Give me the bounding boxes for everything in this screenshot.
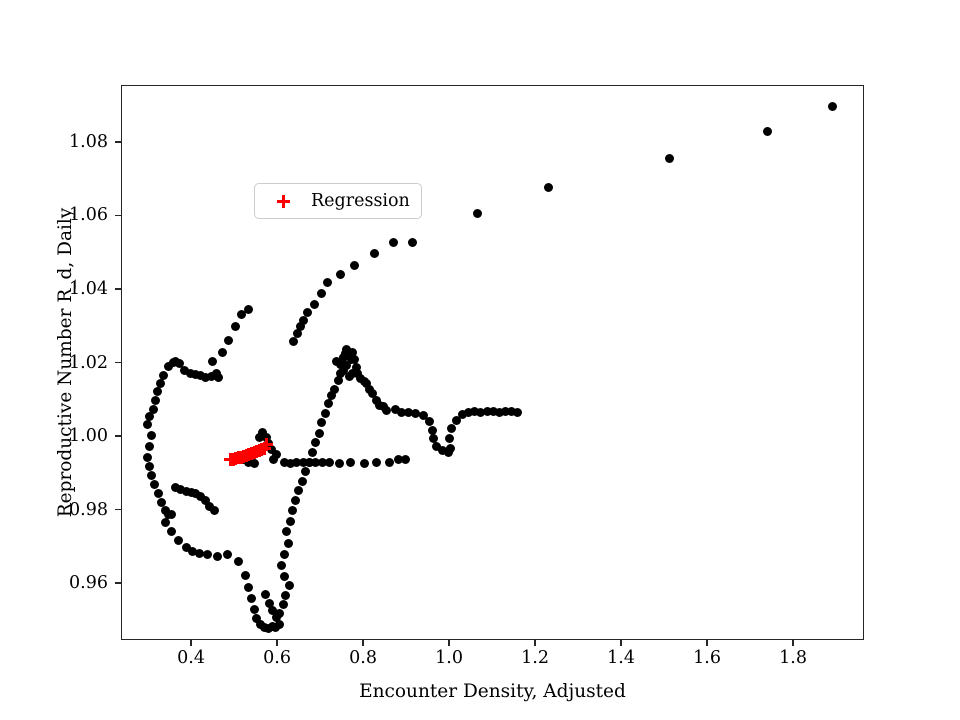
data-point: [311, 438, 320, 447]
data-point: [360, 459, 369, 468]
data-point: [310, 300, 319, 309]
data-point: [308, 448, 317, 457]
data-point: [346, 458, 355, 467]
x-axis-tick: [534, 640, 535, 646]
x-axis-tick: [190, 640, 191, 646]
data-point: [385, 458, 394, 467]
data-point: [224, 336, 233, 345]
x-axis-label: Encounter Density, Adjusted: [121, 681, 864, 702]
data-point: [336, 270, 345, 279]
data-point: [208, 357, 217, 366]
data-point: [513, 408, 522, 417]
y-axis-tick: [115, 215, 121, 216]
data-point: [213, 552, 222, 561]
data-point: [324, 399, 333, 408]
data-point: [167, 527, 176, 536]
data-point: [281, 591, 290, 600]
y-axis-tick-label: 0.96: [69, 573, 108, 593]
data-point: [260, 438, 273, 451]
data-point: [325, 458, 334, 467]
data-point: [234, 557, 243, 566]
plot-frame: Regression: [121, 85, 864, 640]
data-point: [446, 444, 455, 453]
data-point: [145, 462, 154, 471]
data-point: [147, 471, 156, 480]
x-axis-tick-label: 1.6: [693, 648, 721, 668]
y-axis-tick: [115, 582, 121, 583]
data-point: [282, 527, 291, 536]
x-axis-tick-label: 0.8: [349, 648, 377, 668]
data-point: [279, 600, 288, 609]
y-axis-tick: [115, 509, 121, 510]
data-point: [389, 238, 398, 247]
x-axis-tick-label: 0.6: [263, 648, 291, 668]
x-axis-tick-label: 0.4: [177, 648, 205, 668]
data-point: [261, 590, 270, 599]
data-point: [143, 453, 152, 462]
data-point: [231, 322, 240, 331]
data-point: [473, 209, 482, 218]
data-point: [425, 417, 434, 426]
x-axis-tick: [792, 640, 793, 646]
data-points-layer: [122, 86, 863, 639]
y-axis-tick-label: 0.98: [69, 500, 108, 520]
scatter-plot-figure: Reproductive Number R_d, Daily 0.960.981…: [0, 0, 960, 720]
data-point: [174, 536, 183, 545]
data-point: [150, 480, 159, 489]
data-point: [315, 429, 324, 438]
data-point: [280, 572, 289, 581]
data-point: [244, 305, 253, 314]
data-point: [370, 249, 379, 258]
data-point: [241, 571, 250, 580]
data-point: [149, 405, 158, 414]
data-point: [285, 581, 294, 590]
data-point: [298, 477, 307, 486]
data-point: [275, 609, 284, 618]
data-point: [294, 486, 303, 495]
y-axis-tick-label: 1.08: [69, 132, 108, 152]
legend-entry-label: Regression: [311, 191, 410, 211]
y-axis-tick: [115, 288, 121, 289]
y-axis-tick-label: 1.02: [69, 353, 108, 373]
data-point: [250, 605, 259, 614]
data-point: [828, 102, 837, 111]
data-point: [445, 434, 454, 443]
x-axis-tick: [706, 640, 707, 646]
x-axis-tick-label: 1.0: [435, 648, 463, 668]
y-axis-tick: [115, 141, 121, 142]
x-axis-tick-label: 1.4: [607, 648, 635, 668]
data-point: [401, 455, 410, 464]
data-point: [223, 550, 232, 559]
data-point: [317, 418, 326, 427]
data-point: [350, 261, 359, 270]
x-axis-tick: [448, 640, 449, 646]
y-axis-tick-label: 1.04: [69, 279, 108, 299]
data-point: [763, 127, 772, 136]
data-point: [372, 458, 381, 467]
y-axis-tick: [115, 435, 121, 436]
data-point: [269, 455, 278, 464]
data-point: [382, 406, 391, 415]
y-axis-tick-label: 1.06: [69, 205, 108, 225]
data-point: [203, 550, 212, 559]
x-axis-tick: [276, 640, 277, 646]
x-axis-tick-label: 1.8: [779, 648, 807, 668]
x-axis-tick-label: 1.2: [521, 648, 549, 668]
data-point: [224, 453, 237, 466]
data-point: [286, 517, 295, 526]
data-point: [143, 420, 152, 429]
data-point: [145, 442, 154, 451]
data-point: [161, 518, 170, 527]
data-point: [156, 379, 165, 388]
data-point: [151, 396, 160, 405]
data-point: [447, 424, 456, 433]
data-point: [291, 496, 300, 505]
data-point: [284, 539, 293, 548]
data-point: [299, 316, 308, 325]
x-axis-tick: [362, 640, 363, 646]
data-point: [317, 289, 326, 298]
y-axis-tick-labels: 0.960.981.001.021.041.061.08: [0, 0, 108, 720]
y-axis-tick-label: 1.00: [69, 426, 108, 446]
data-point: [280, 550, 289, 559]
plus-icon: [277, 195, 290, 208]
data-point: [210, 506, 219, 515]
data-point: [301, 467, 310, 476]
data-point: [303, 308, 312, 317]
data-point: [665, 154, 674, 163]
x-axis-tick: [620, 640, 621, 646]
data-point: [544, 183, 553, 192]
data-point: [330, 385, 339, 394]
data-point: [159, 371, 168, 380]
data-point: [335, 459, 344, 468]
data-point: [289, 337, 298, 346]
legend-box: Regression: [254, 183, 422, 219]
data-point: [247, 594, 256, 603]
data-point: [147, 431, 156, 440]
y-axis-tick: [115, 362, 121, 363]
data-point: [218, 348, 227, 357]
data-point: [321, 409, 330, 418]
data-point: [323, 278, 332, 287]
data-point: [244, 583, 253, 592]
data-point: [277, 561, 286, 570]
data-point: [214, 373, 223, 382]
data-point: [408, 238, 417, 247]
data-point: [288, 506, 297, 515]
legend-marker-cell: [255, 195, 311, 208]
